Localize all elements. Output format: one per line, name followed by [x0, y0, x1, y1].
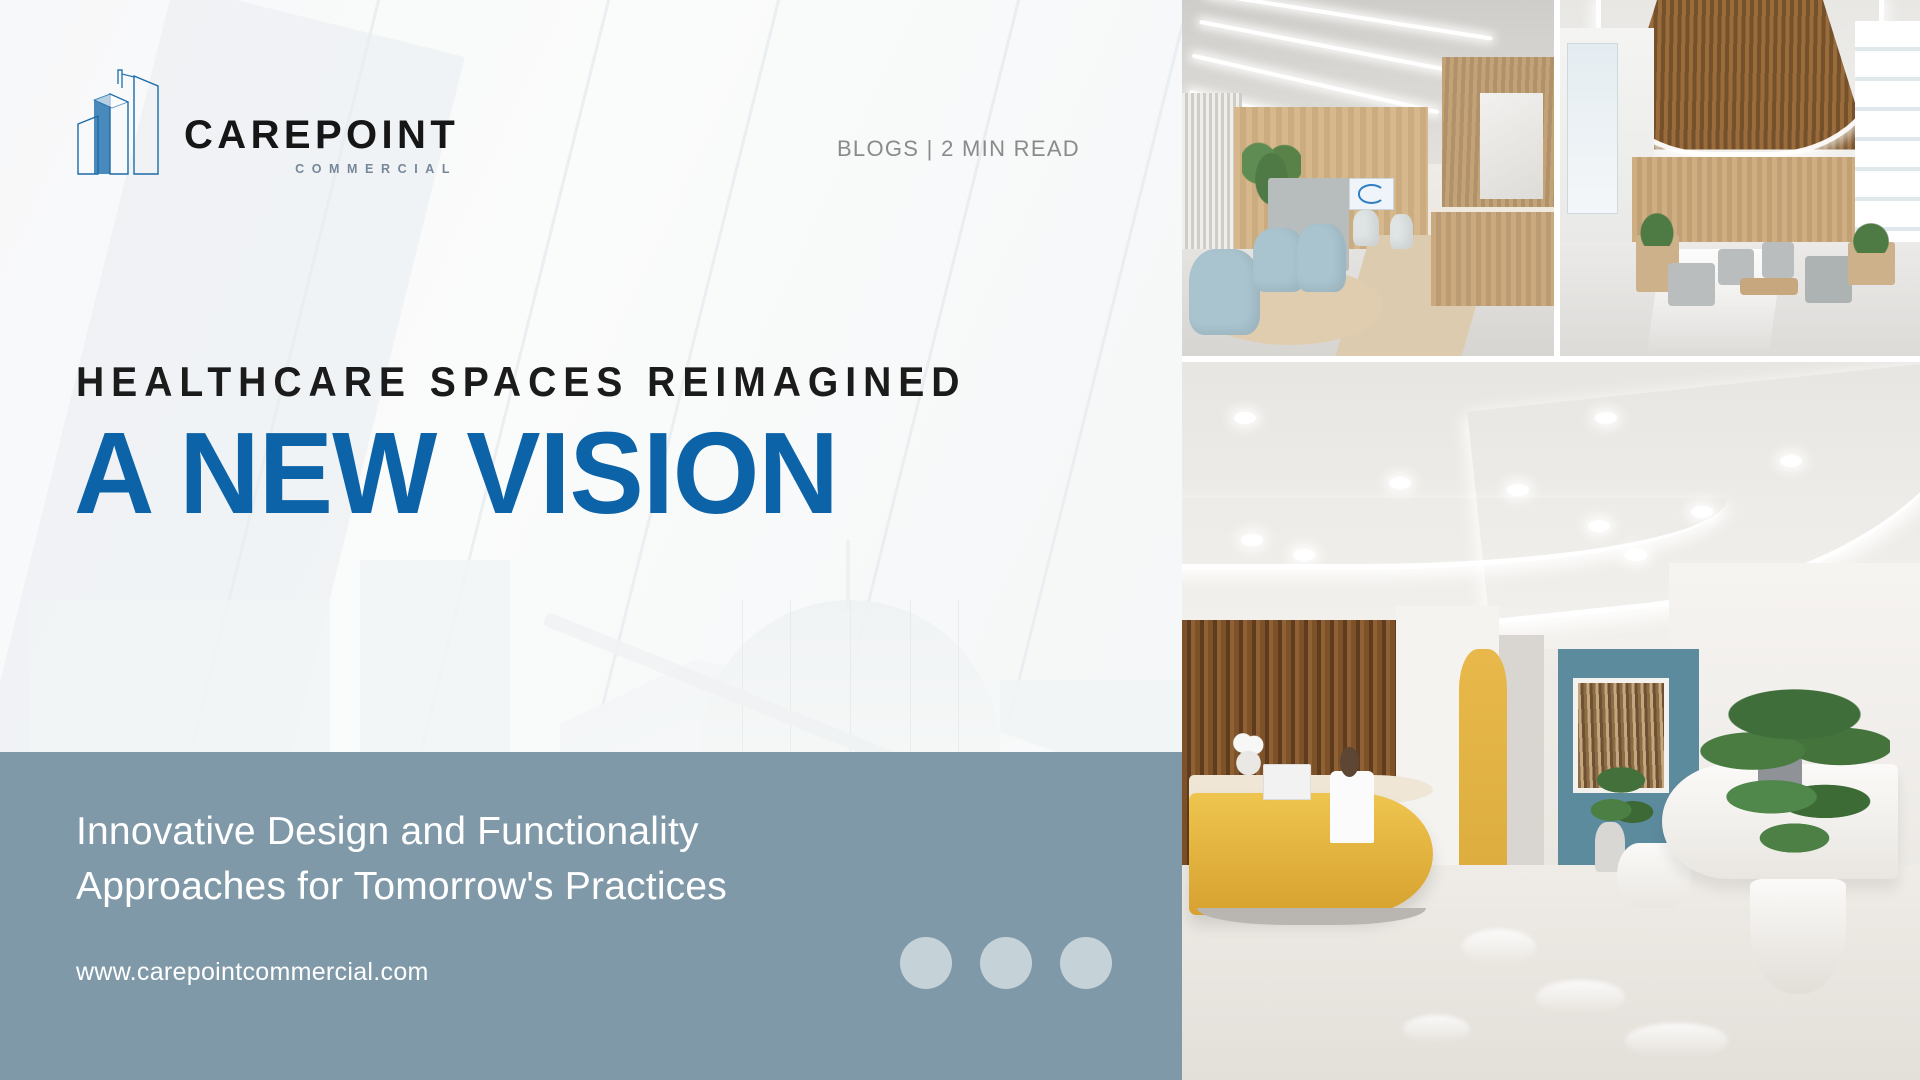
decorative-dots: [900, 937, 1112, 989]
website-url[interactable]: www.carepointcommercial.com: [76, 958, 429, 987]
building-skyline-icon: [72, 62, 170, 180]
dot-icon: [900, 937, 952, 989]
brand-logo[interactable]: CAREPOINT COMMERCIAL: [72, 62, 459, 180]
photo-corridor: [1560, 0, 1920, 356]
subtitle-line-2: Approaches for Tomorrow's Practices: [76, 859, 727, 914]
page-title: A NEW VISION: [74, 414, 838, 532]
left-content-panel: CAREPOINT COMMERCIAL BLOGS | 2 MIN READ …: [0, 0, 1182, 1080]
hero-kicker: HEALTHCARE SPACES REIMAGINED: [76, 358, 966, 406]
subtitle-line-1: Innovative Design and Functionality: [76, 804, 727, 859]
photo-waiting-lounge: [1182, 0, 1554, 356]
dot-icon: [1060, 937, 1112, 989]
footer-band: Innovative Design and Functionality Appr…: [0, 752, 1182, 1080]
subtitle-block: Innovative Design and Functionality Appr…: [76, 804, 727, 915]
photo-reception-lobby: [1182, 362, 1920, 1080]
image-gallery: [1182, 0, 1920, 1080]
dot-icon: [980, 937, 1032, 989]
post-meta-label: BLOGS | 2 MIN READ: [837, 136, 1080, 162]
brand-tagline: COMMERCIAL: [184, 162, 459, 176]
blog-cover-poster: CAREPOINT COMMERCIAL BLOGS | 2 MIN READ …: [0, 0, 1920, 1080]
logo-wordmark: CAREPOINT COMMERCIAL: [184, 115, 459, 180]
brand-name: CAREPOINT: [184, 115, 459, 155]
watermark-spire: [846, 540, 850, 610]
